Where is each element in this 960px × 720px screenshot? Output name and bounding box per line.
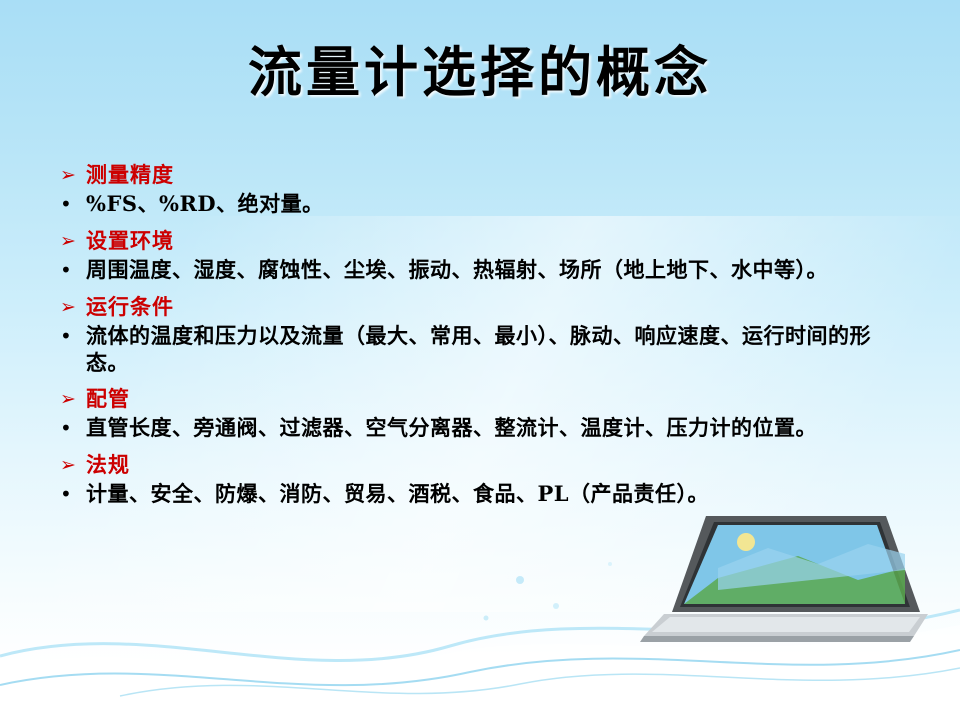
bullet-row-4: • 直管长度、旁通阀、过滤器、空气分离器、整流计、温度计、压力计的位置。 <box>60 414 920 442</box>
heading-row-5: ➢ 法规 <box>60 452 920 478</box>
bullet-row-1: • %FS、%RD、绝对量。 <box>60 190 920 218</box>
bullet-text-3: 流体的温度和压力以及流量（最大、常用、最小）、脉动、响应速度、运行时间的形态。 <box>86 322 906 376</box>
arrow-bullet-icon: ➢ <box>60 228 86 254</box>
slide-content: ➢ 测量精度 • %FS、%RD、绝对量。 ➢ 设置环境 • 周围温度、湿度、腐… <box>60 162 920 512</box>
dot-bullet-icon: • <box>60 414 86 442</box>
bullet-row-3: • 流体的温度和压力以及流量（最大、常用、最小）、脉动、响应速度、运行时间的形态… <box>60 322 920 376</box>
arrow-bullet-icon: ➢ <box>60 386 86 412</box>
arrow-bullet-icon: ➢ <box>60 162 86 188</box>
heading-text-5: 法规 <box>86 452 130 478</box>
heading-row-3: ➢ 运行条件 <box>60 294 920 320</box>
dot-bullet-icon: • <box>60 480 86 508</box>
bullet-text-2: 周围温度、湿度、腐蚀性、尘埃、振动、热辐射、场所（地上地下、水中等）。 <box>86 256 828 283</box>
bullet-row-5: • 计量、安全、防爆、消防、贸易、酒税、食品、PL（产品责任）。 <box>60 480 920 508</box>
arrow-bullet-icon: ➢ <box>60 294 86 320</box>
heading-text-2: 设置环境 <box>86 228 174 254</box>
slide-canvas: 流量计选择的概念 ➢ 测量精度 • %FS、%RD、绝对量。 ➢ 设置环境 • … <box>0 0 960 720</box>
laptop-illustration <box>628 508 928 658</box>
heading-text-4: 配管 <box>86 386 130 412</box>
bullet-text-4: 直管长度、旁通阀、过滤器、空气分离器、整流计、温度计、压力计的位置。 <box>86 414 817 441</box>
dot-bullet-icon: • <box>60 190 86 218</box>
heading-text-3: 运行条件 <box>86 294 174 320</box>
slide-title: 流量计选择的概念 <box>0 28 960 107</box>
heading-row-2: ➢ 设置环境 <box>60 228 920 254</box>
heading-text-1: 测量精度 <box>86 162 174 188</box>
arrow-bullet-icon: ➢ <box>60 452 86 478</box>
heading-row-4: ➢ 配管 <box>60 386 920 412</box>
bullet-text-5: 计量、安全、防爆、消防、贸易、酒税、食品、PL（产品责任）。 <box>86 480 709 507</box>
bullet-text-1: %FS、%RD、绝对量。 <box>86 190 324 217</box>
heading-row-1: ➢ 测量精度 <box>60 162 920 188</box>
bullet-row-2: • 周围温度、湿度、腐蚀性、尘埃、振动、热辐射、场所（地上地下、水中等）。 <box>60 256 920 284</box>
dot-bullet-icon: • <box>60 322 86 350</box>
dot-bullet-icon: • <box>60 256 86 284</box>
